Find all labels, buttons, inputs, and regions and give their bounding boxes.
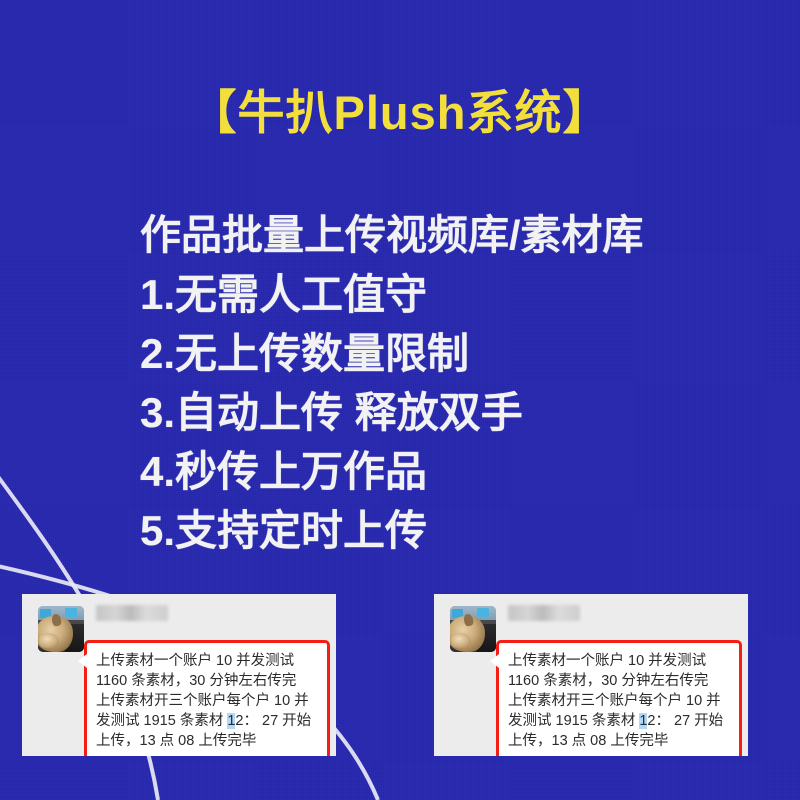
page-title: 【牛扒Plush系统】 xyxy=(0,84,800,142)
message-bubble: 上传素材一个账户 10 并发测试 1160 条素材，30 分钟左右传完 上传素材… xyxy=(496,640,742,756)
message-text: 2： 27 开始 xyxy=(647,713,723,729)
sender-name-redacted xyxy=(508,605,580,621)
message-text: 发测试 1915 条素材 xyxy=(508,713,639,729)
promo-poster: 【牛扒Plush系统】 作品批量上传视频库/素材库 1.无需人工值守 2.无上传… xyxy=(0,0,800,800)
feature-line-5: 5.支持定时上传 xyxy=(140,501,700,560)
message-bubble-wrapper-right: 上传素材一个账户 10 并发测试 1160 条素材，30 分钟左右传完 上传素材… xyxy=(490,640,742,756)
message-line: 上传素材一个账户 10 并发测试 xyxy=(96,651,320,671)
message-bubble: 上传素材一个账户 10 并发测试 1160 条素材，30 分钟左右传完 上传素材… xyxy=(84,640,330,756)
message-line: 上传，13 点 08 上传完毕 xyxy=(508,731,732,751)
feature-line-3: 3.自动上传 释放双手 xyxy=(140,383,700,442)
message-line: 1160 条素材，30 分钟左右传完 xyxy=(96,671,320,691)
message-text: 1160 条素材，30 分钟左右传完 xyxy=(96,673,296,689)
message-text: 发测试 1915 条素材 xyxy=(96,713,227,729)
feature-list: 作品批量上传视频库/素材库 1.无需人工值守 2.无上传数量限制 3.自动上传 … xyxy=(140,206,700,560)
chat-header-left xyxy=(22,594,336,644)
chat-header-right xyxy=(434,594,748,644)
message-line: 上传素材一个账户 10 并发测试 xyxy=(508,651,732,671)
bubble-tail-icon xyxy=(490,654,499,668)
message-line: 上传素材开三个账户每个户 10 并 xyxy=(96,691,320,711)
message-text: 上传，13 点 08 上传完毕 xyxy=(96,733,256,749)
feature-line-2: 2.无上传数量限制 xyxy=(140,324,700,383)
bubble-tail-icon xyxy=(78,654,87,668)
feature-line-1: 1.无需人工值守 xyxy=(140,265,700,324)
feature-line-0: 作品批量上传视频库/素材库 xyxy=(140,206,700,265)
message-text: 上传素材开三个账户每个户 10 并 xyxy=(508,693,721,709)
message-line: 上传素材开三个账户每个户 10 并 xyxy=(508,691,732,711)
message-text: 2： 27 开始 xyxy=(235,713,311,729)
message-text: 上传素材一个账户 10 并发测试 xyxy=(508,653,706,669)
message-text: 上传素材一个账户 10 并发测试 xyxy=(96,653,294,669)
chat-screenshot-card-right: 上传素材一个账户 10 并发测试 1160 条素材，30 分钟左右传完 上传素材… xyxy=(434,594,748,756)
chat-screenshot-card-left: 上传素材一个账户 10 并发测试 1160 条素材，30 分钟左右传完 上传素材… xyxy=(22,594,336,756)
message-line: 发测试 1915 条素材 12： 27 开始 xyxy=(508,711,732,731)
sender-name-redacted xyxy=(96,605,168,621)
message-text: 上传，13 点 08 上传完毕 xyxy=(508,733,668,749)
message-bubble-wrapper-left: 上传素材一个账户 10 并发测试 1160 条素材，30 分钟左右传完 上传素材… xyxy=(78,640,330,756)
message-line: 上传，13 点 08 上传完毕 xyxy=(96,731,320,751)
message-text: 1160 条素材，30 分钟左右传完 xyxy=(508,673,708,689)
message-line: 1160 条素材，30 分钟左右传完 xyxy=(508,671,732,691)
message-line: 发测试 1915 条素材 12： 27 开始 xyxy=(96,711,320,731)
message-text: 上传素材开三个账户每个户 10 并 xyxy=(96,693,309,709)
feature-line-4: 4.秒传上万作品 xyxy=(140,442,700,501)
